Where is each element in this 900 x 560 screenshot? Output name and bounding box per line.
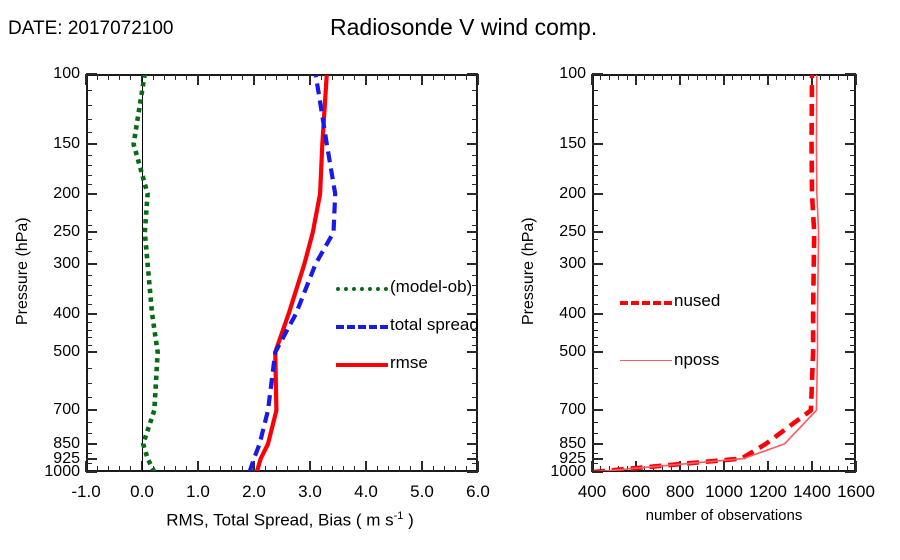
left-legend-item: rmse — [336, 353, 428, 373]
left-legend-item: (model-ob) — [336, 277, 472, 297]
legend-line — [620, 301, 672, 305]
legend-line — [336, 363, 388, 367]
legend-line — [620, 360, 672, 361]
legend-label: rmse — [390, 353, 428, 373]
legend-line — [336, 287, 388, 291]
legend-label: nused — [674, 291, 720, 311]
right-legend-item: nused — [620, 291, 720, 311]
right-series-nposs — [594, 74, 819, 472]
legend-label: nposs — [674, 350, 719, 370]
legend-label: (model-ob) — [390, 277, 472, 297]
chart-page: DATE: 2017072100 Radiosonde V wind comp.… — [0, 0, 900, 560]
right-legend-item: nposs — [620, 350, 719, 370]
right-series-nused — [593, 74, 814, 472]
legend-line — [336, 325, 388, 329]
left-legend-item: total spread — [336, 315, 479, 335]
legend-label: total spread — [390, 315, 479, 335]
